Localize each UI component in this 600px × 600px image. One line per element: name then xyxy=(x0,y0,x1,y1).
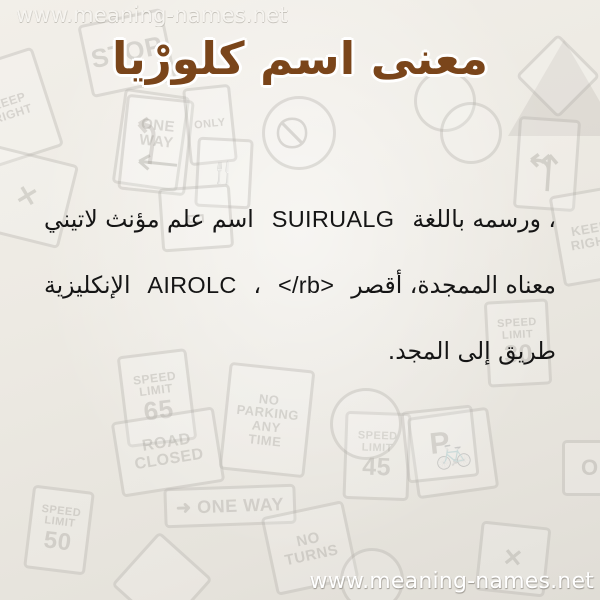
page-title: معنى اسم كلورْيا xyxy=(0,32,600,85)
sign-on-icon: ON xyxy=(562,440,600,496)
description-line-1-group: SUIRUALG xyxy=(272,186,395,252)
sign-no-pedestrian-icon xyxy=(330,388,402,460)
watermark-bottom: www.meaning-names.net xyxy=(310,569,594,594)
sign-left-arrow-icon xyxy=(112,88,191,192)
description-line-2: معناه الممجدة، أقصر </rb> ، AIROLC الإنك… xyxy=(44,252,556,318)
latin-name-suirualg: SUIRUALG xyxy=(272,186,395,252)
sign-prohibition-two-icon xyxy=(440,102,502,164)
description-line-2-comma: ، xyxy=(254,252,262,318)
sign-parking-p-icon: P xyxy=(400,404,479,483)
sign-no-entry-icon: ⃠ xyxy=(262,96,336,170)
name-description: ، ورسمه باللغة SUIRUALG اسم علم مؤنث لات… xyxy=(44,186,556,384)
description-line-1-head: اسم علم مؤنث لاتيني xyxy=(44,186,254,252)
description-line-3: طريق إلى المجد. xyxy=(44,318,556,384)
sign-road-closed-icon: ROADCLOSED xyxy=(111,406,226,497)
sign-speed-limit-50-icon: SPEEDLIMIT 50 xyxy=(23,485,95,576)
sign-one-way-icon: ONEWAY xyxy=(117,94,195,197)
sign-pedestrian-crossing-icon xyxy=(111,531,213,600)
sign-keep-right-two-icon: KEEPRIGHT xyxy=(549,185,600,288)
description-line-1: ، ورسمه باللغة SUIRUALG اسم علم مؤنث لات… xyxy=(44,186,556,252)
latin-name-airolc: AIROLC xyxy=(147,252,236,318)
sign-one-way-right-icon: ONE WAY ➜ xyxy=(163,484,296,529)
description-line-2-head: الإنكليزية xyxy=(44,252,130,318)
description-line-1-tail: ، ورسمه باللغة xyxy=(412,186,556,252)
html-break-tag: </rb> xyxy=(278,252,334,318)
sign-no-bicycles-icon: 🚲 xyxy=(407,407,500,500)
sign-only-icon: ONLY xyxy=(182,84,238,167)
name-meaning-card: KEEPRIGHT ONEWAY ONLY STOP ✕ 🍴 ▭ xyxy=(0,0,600,600)
watermark-top: www.meaning-names.net xyxy=(16,3,288,27)
sign-speed-limit-45-icon: SPEEDLIMIT 45 xyxy=(342,411,411,501)
description-line-2-tail: معناه الممجدة، أقصر xyxy=(351,252,556,318)
